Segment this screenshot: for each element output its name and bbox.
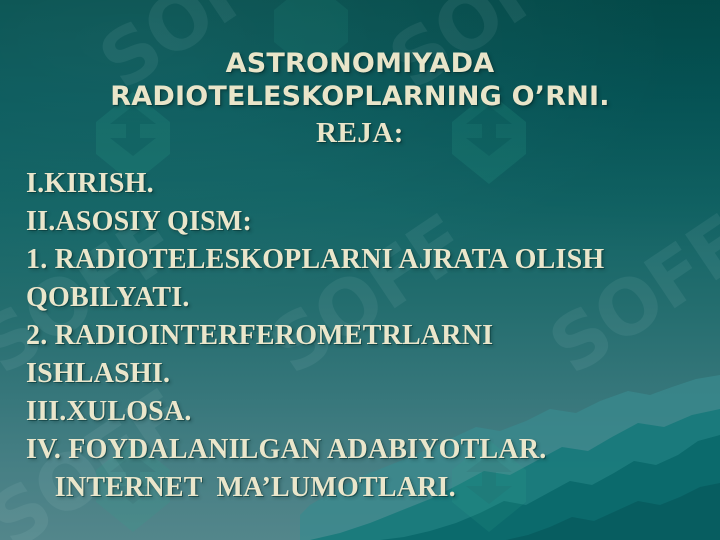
- outline-list: I.KIRISH. II.ASOSIY QISM: 1. RADIOTELESK…: [26, 165, 706, 507]
- slide-title-line-1: ASTRONOMIYADA: [0, 47, 720, 80]
- outline-item: QOBILYATI.: [26, 279, 706, 317]
- outline-item: III.XULOSA.: [26, 393, 706, 431]
- outline-item: INTERNET MA’LUMOTLARI.: [26, 469, 706, 507]
- outline-item: 1. RADIOTELESKOPLARNI AJRATA OLISH: [26, 241, 706, 279]
- slide-title-block: ASTRONOMIYADA RADIOTELESKOPLARNING O’RNI…: [0, 47, 720, 150]
- slide-title-line-2: RADIOTELESKOPLARNING O’RNI.: [0, 80, 720, 113]
- outline-item: 2. RADIOINTERFEROMETRLARNI: [26, 317, 706, 355]
- outline-item: I.KIRISH.: [26, 165, 706, 203]
- slide-content: ASTRONOMIYADA RADIOTELESKOPLARNING O’RNI…: [0, 0, 720, 540]
- section-heading: REJA:: [0, 116, 720, 150]
- outline-item: II.ASOSIY QISM:: [26, 203, 706, 241]
- outline-item: IV. FOYDALANILGAN ADABIYOTLAR.: [26, 431, 706, 469]
- presentation-slide: SOFF SOFF SOFF SOFF SOFF SOFF: [0, 0, 720, 540]
- outline-item: ISHLASHI.: [26, 355, 706, 393]
